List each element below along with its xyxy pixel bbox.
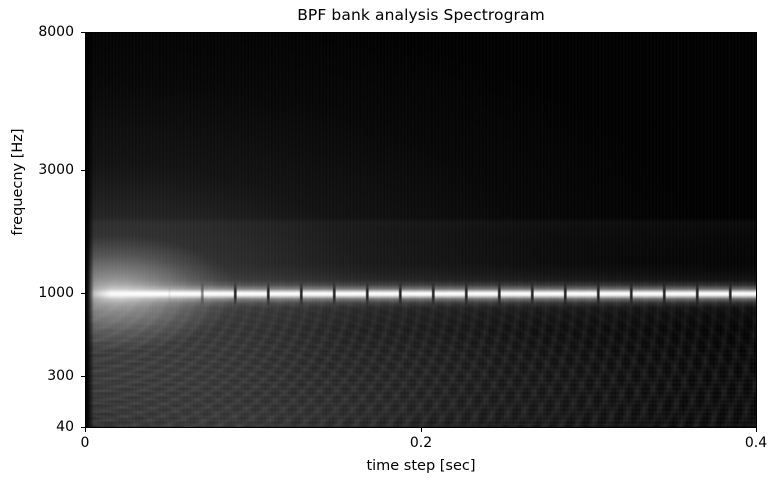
spectrogram-left-gutter — [85, 32, 94, 428]
y-tick-label-300: 300 — [0, 369, 74, 383]
spectrogram-frame-striping — [85, 32, 757, 428]
y-tick-label-8000: 8000 — [0, 25, 74, 39]
y-tick-label-3000: 3000 — [0, 163, 74, 177]
chart-title: BPF bank analysis Spectrogram — [85, 6, 757, 24]
figure-canvas: BPF bank analysis Spectrogram frequecny … — [0, 0, 774, 484]
x-tick-label-0: 0 — [55, 436, 115, 450]
x-tick-label-0-2: 0.2 — [391, 436, 451, 450]
spectrogram-image[interactable] — [85, 32, 757, 428]
y-tick-label-40: 40 — [0, 420, 74, 434]
x-axis-label: time step [sec] — [85, 458, 757, 474]
y-tick-mark-300 — [81, 376, 85, 377]
y-tick-mark-8000 — [81, 32, 85, 33]
y-tick-label-1000: 1000 — [0, 286, 74, 300]
y-axis-label: frequecny [Hz] — [10, 102, 26, 262]
x-tick-mark-0-4 — [756, 428, 757, 432]
y-tick-mark-1000 — [81, 293, 85, 294]
y-tick-mark-3000 — [81, 170, 85, 171]
x-tick-mark-0-2 — [421, 428, 422, 432]
x-tick-label-0-4: 0.4 — [726, 436, 774, 450]
x-tick-mark-0 — [85, 428, 86, 432]
